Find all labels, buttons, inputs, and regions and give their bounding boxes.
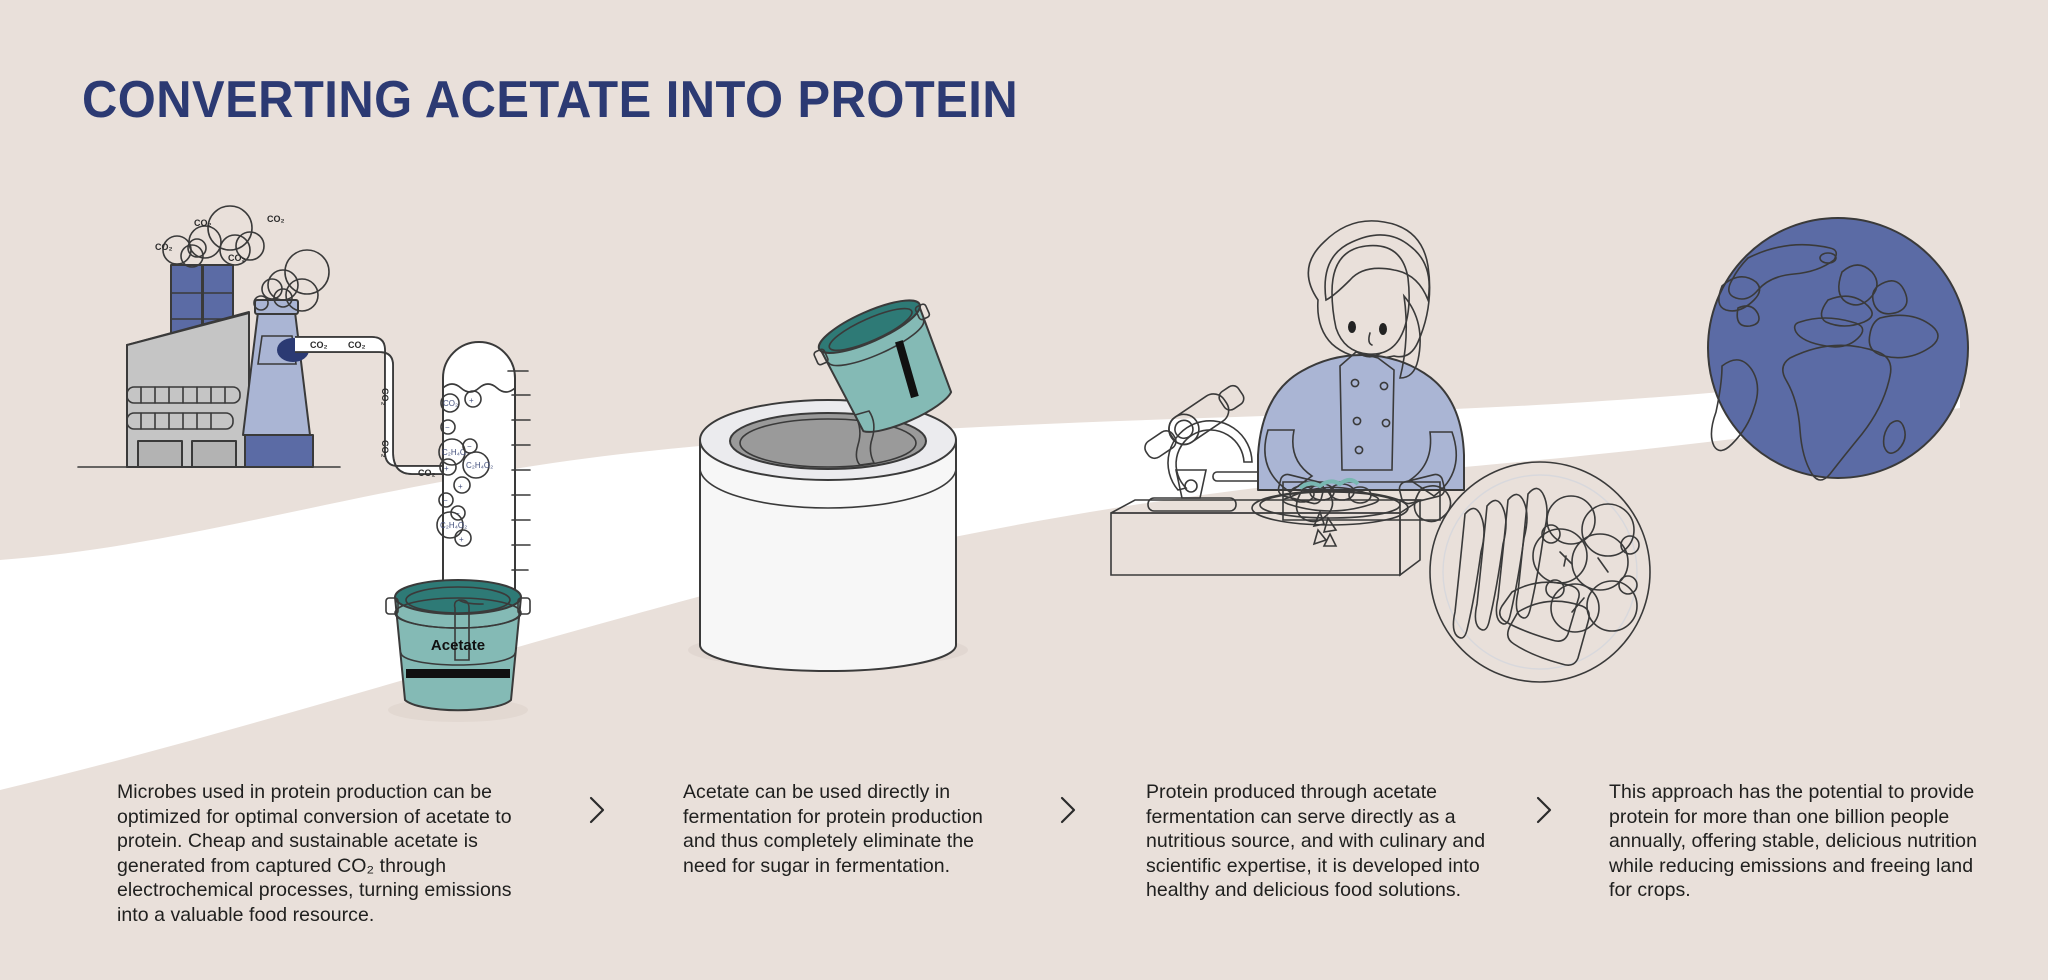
svg-text:−: − [467,442,472,451]
co2-label: CO₂ [380,440,390,458]
scene-factory: CO₂ CO₂ CO₂ CO₂ CO₂ CO₂ CO₂ CO₂ CO₂ [78,206,530,722]
svg-text:+: + [444,464,449,473]
bread-slices [1500,582,1589,665]
caption-step-4: This approach has the potential to provi… [1609,780,1979,903]
co2-label: CO₂ [348,340,366,350]
svg-text:−: − [443,496,448,505]
co2-label: CO₂ [380,388,390,406]
caption-step-2: Acetate can be used directly in fermenta… [683,780,1003,878]
mushrooms [1533,496,1639,632]
svg-text:−: − [445,423,450,432]
co2-label: CO₂ [267,214,285,224]
food-plate [1430,462,1650,682]
svg-text:+: + [458,482,463,491]
co2-label: CO₂ [418,468,436,478]
svg-text:C₂H₄O₂: C₂H₄O₂ [466,461,493,470]
scene-globe [1708,218,1968,480]
cooling-tower [243,300,313,467]
acetate-bucket: Acetate [386,580,530,722]
chevron-right-icon [583,790,611,830]
microscope [1139,379,1261,511]
caption-row: Microbes used in protein production can … [0,780,2048,980]
co2-pipe: CO₂ CO₂ CO₂ CO₂ CO₂ [295,337,452,478]
co2-label: CO₂ [155,242,173,252]
svg-text:+: + [469,396,474,405]
co2-label: CO₂ [194,218,212,228]
svg-text:C₂H₄O₂: C₂H₄O₂ [440,521,467,530]
infographic-canvas: CONVERTING ACETATE INTO PROTEIN .ol{stro… [0,0,2048,980]
acetate-bucket-label: Acetate [431,637,485,654]
co2-label: CO₂ [228,253,246,263]
co2-label: CO₂ [310,340,328,350]
factory-building [127,312,249,467]
scene-fermentation [688,289,968,671]
caption-step-3: Protein produced through acetate ferment… [1146,780,1528,903]
svg-text:+: + [459,535,464,544]
chevron-right-icon [1530,790,1558,830]
svg-text:CO₂: CO₂ [443,399,458,408]
chevron-right-icon [1054,790,1082,830]
svg-text:C₂H₄O₂: C₂H₄O₂ [442,448,469,457]
caption-step-1: Microbes used in protein production can … [117,780,517,927]
scene-chef [1111,221,1650,682]
